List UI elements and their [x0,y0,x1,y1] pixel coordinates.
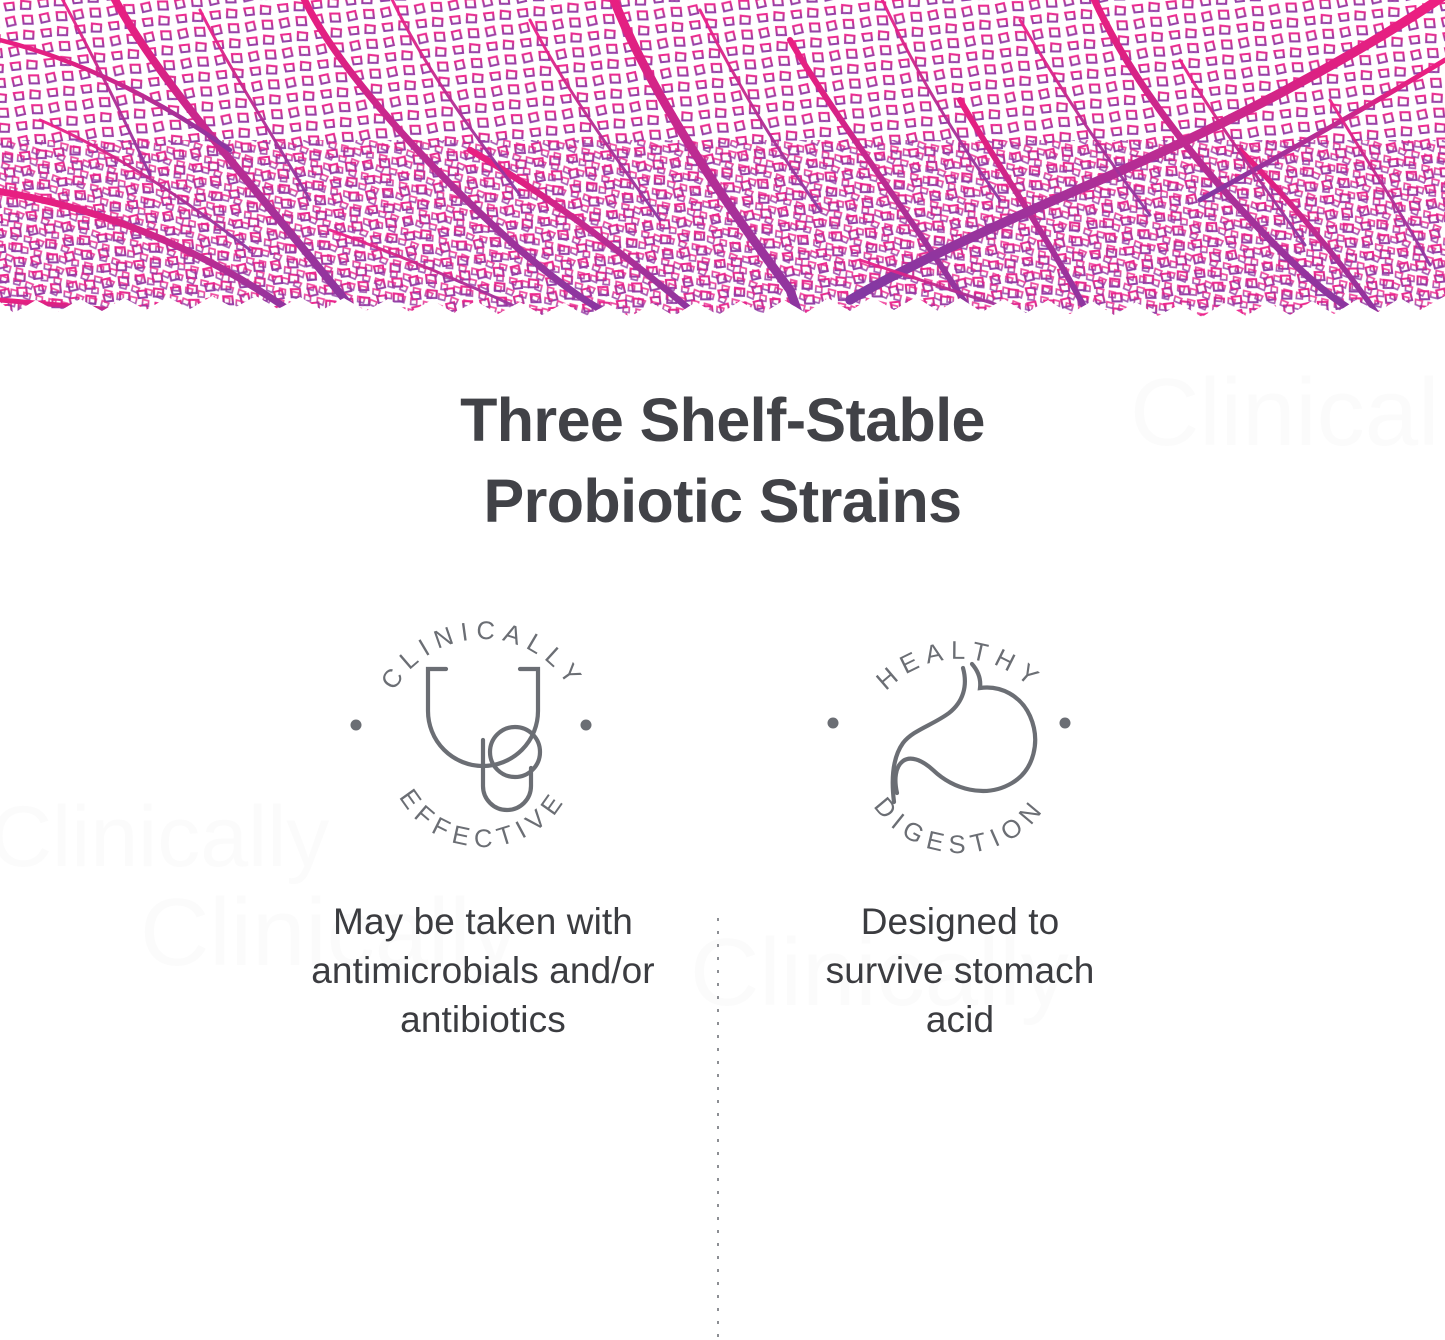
page-title-line-2: Probiotic Strains [0,461,1445,542]
caption-line: Designed to [725,898,1195,947]
badge-dot-right [581,720,592,731]
feature-columns: CLINICALLY EFFECTIVE [0,580,1445,1030]
feature-caption-healthy-digestion: Designed to survive stomach acid [725,898,1195,1044]
badge-top-arc-label: CLINICALLY [376,617,590,695]
badge-dot-left [351,720,362,731]
caption-line: survive stomach [725,947,1195,996]
feature-caption-clinically-effective: May be taken with antimicrobials and/or … [248,898,718,1044]
page-title: Three Shelf-Stable Probiotic Strains [0,380,1445,542]
caption-line: May be taken with [248,898,718,947]
feature-column-healthy-digestion: HEALTHY DIGESTION Designed to su [725,580,1195,1044]
feature-column-clinically-effective: CLINICALLY EFFECTIVE [248,580,718,1044]
badge-healthy-digestion: HEALTHY DIGESTION [815,580,1105,870]
caption-line: antibiotics [248,996,718,1045]
hero-leaf-banner [0,0,1445,318]
badge-clinically-effective: CLINICALLY EFFECTIVE [338,580,628,870]
leaf-vein-illustration [0,0,1445,318]
badge-top-arc-label: HEALTHY [871,637,1048,696]
content-area: Clinically Clinically Clinically Clinica… [0,318,1445,1084]
caption-line: antimicrobials and/or [248,947,718,996]
stomach-icon [893,664,1035,802]
badge-dot-left [828,718,839,729]
badge-seal-graphic: HEALTHY DIGESTION [815,580,1105,870]
caption-line: acid [725,996,1195,1045]
badge-seal-graphic: CLINICALLY EFFECTIVE [338,580,628,870]
badge-dot-right [1060,718,1071,729]
page-title-line-1: Three Shelf-Stable [0,380,1445,461]
